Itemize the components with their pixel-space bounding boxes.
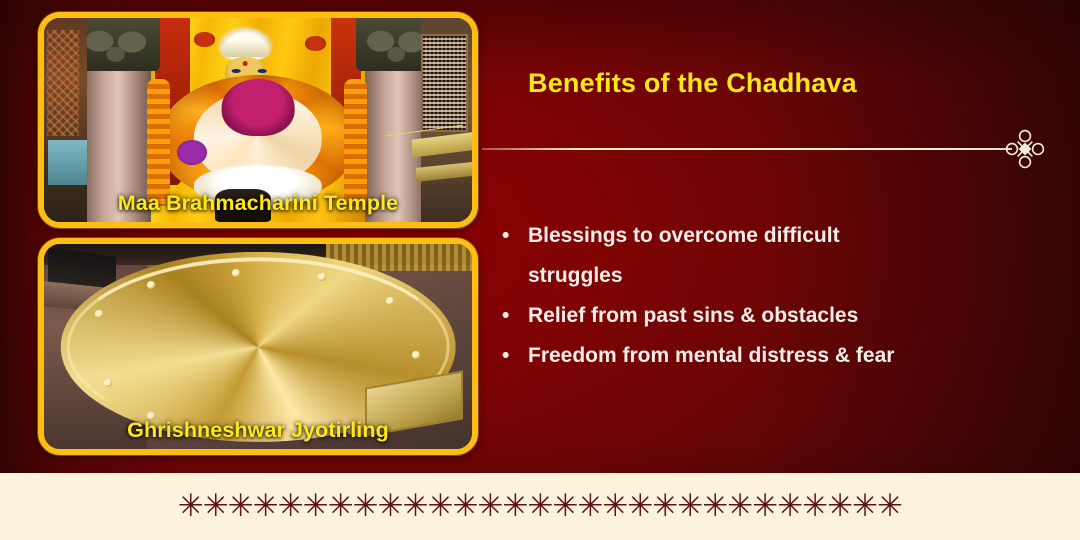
card-caption-jyotirling: Ghrishneshwar Jyotirling [44, 418, 472, 443]
bullet-marker: • [502, 216, 528, 256]
list-item-label: Freedom from mental distress & fear [528, 336, 938, 376]
list-item-label: Relief from past sins & obstacles [528, 296, 938, 336]
card-caption-temple: Maa Brahmacharini Temple [44, 191, 472, 216]
list-item: • Freedom from mental distress & fear [502, 336, 1042, 376]
list-item: • Relief from past sins & obstacles [502, 296, 1042, 336]
divider-line [482, 148, 1012, 150]
knot-ornament-icon [1004, 128, 1046, 170]
image-card-jyotirling[interactable]: Ghrishneshwar Jyotirling [38, 238, 478, 455]
flower-border-decoration: ✳✳✳✳✳✳✳✳✳✳✳✳✳✳✳✳✳✳✳✳✳✳✳✳✳✳✳✳✳ [0, 484, 1080, 528]
slide-canvas: Maa Brahmacharini Temple [0, 0, 1080, 540]
page-title: Benefits of the Chadhava [528, 68, 857, 99]
benefits-list: • Blessings to overcome difficult strugg… [502, 216, 1042, 376]
footer-band: ✳✳✳✳✳✳✳✳✳✳✳✳✳✳✳✳✳✳✳✳✳✳✳✳✳✳✳✳✳ [0, 473, 1080, 540]
list-item-label: Blessings to overcome difficult struggle… [528, 216, 938, 296]
bullet-marker: • [502, 336, 528, 376]
image-card-temple[interactable]: Maa Brahmacharini Temple [38, 12, 478, 228]
bullet-marker: • [502, 296, 528, 336]
list-item: • Blessings to overcome difficult strugg… [502, 216, 1042, 296]
